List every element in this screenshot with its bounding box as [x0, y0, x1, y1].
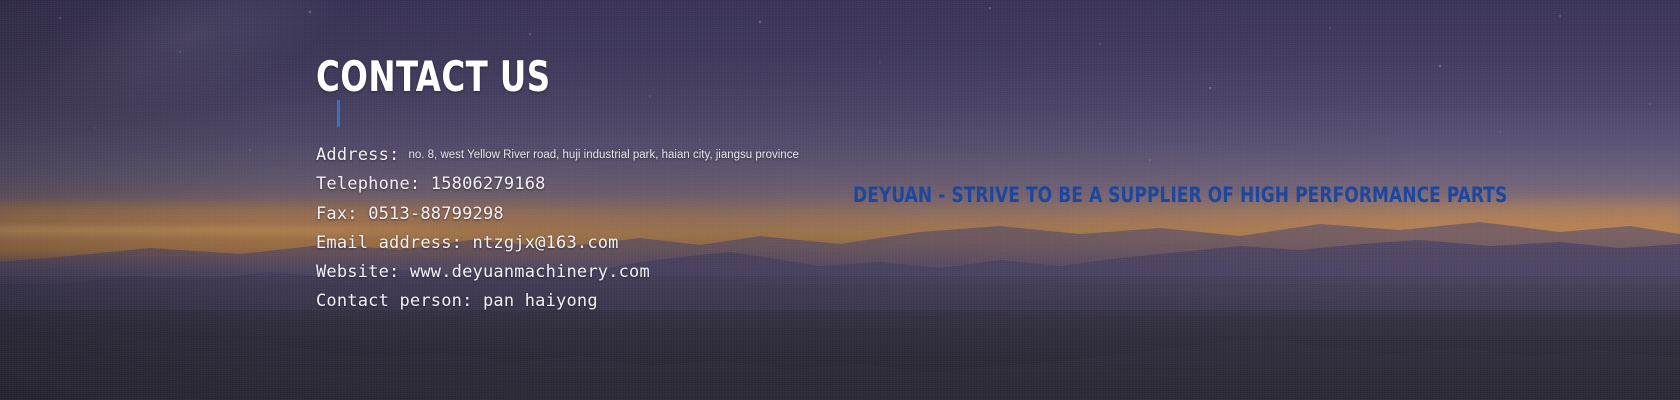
contact-us-banner: CONTACT US Address:no. 8, west Yellow Ri… — [0, 0, 1680, 400]
banner-content: CONTACT US Address:no. 8, west Yellow Ri… — [0, 0, 1680, 400]
title-accent-bar — [337, 100, 340, 127]
address-label: Address: — [316, 145, 399, 165]
email-value[interactable]: ntzgjx@163.com — [473, 233, 619, 253]
telephone-value[interactable]: 15806279168 — [431, 174, 546, 194]
page-title: CONTACT US — [316, 54, 551, 100]
company-tagline: DEYUAN - STRIVE TO BE A SUPPLIER OF HIGH… — [853, 182, 1507, 208]
telephone-label: Telephone: — [316, 174, 420, 194]
email-label: Email address: — [316, 233, 462, 253]
contact-details-list: Address:no. 8, west Yellow River road, h… — [316, 141, 1216, 317]
address-value: no. 8, west Yellow River road, huji indu… — [399, 149, 798, 161]
contact-person-label: Contact person: — [316, 291, 473, 311]
contact-detail-contact-person: Contact person: pan haiyong — [316, 287, 1216, 316]
contact-detail-address: Address:no. 8, west Yellow River road, h… — [316, 141, 1216, 170]
website-value[interactable]: www.deyuanmachinery.com — [410, 262, 650, 282]
fax-value: 0513-88799298 — [368, 204, 504, 224]
fax-label: Fax: — [316, 204, 358, 224]
contact-detail-website: Website: www.deyuanmachinery.com — [316, 258, 1216, 287]
contact-detail-email: Email address: ntzgjx@163.com — [316, 229, 1216, 258]
website-label: Website: — [316, 262, 399, 282]
contact-person-value: pan haiyong — [483, 291, 598, 311]
